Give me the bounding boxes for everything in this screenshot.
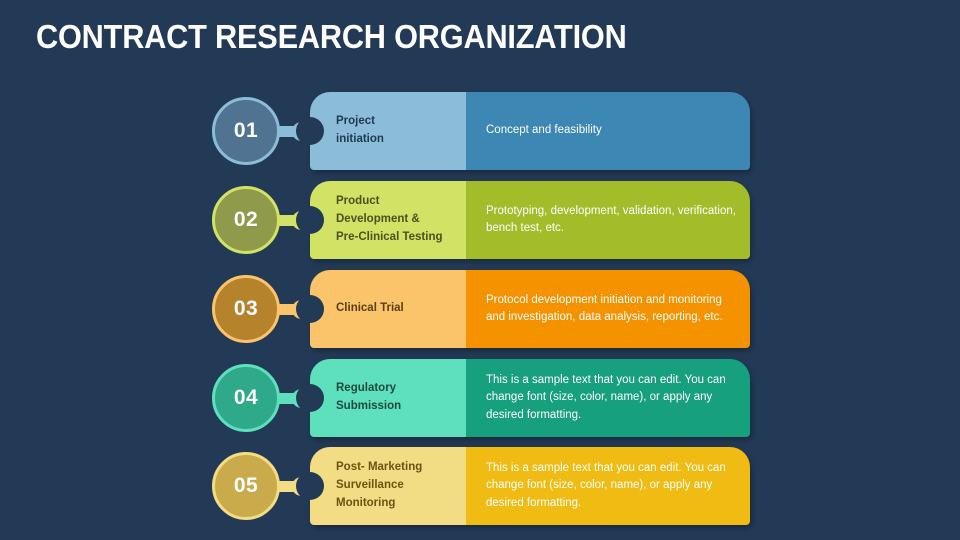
step-bar: ProjectinitiationConcept and feasibility xyxy=(310,92,750,170)
step-bar: RegulatorySubmissionThis is a sample tex… xyxy=(310,359,750,437)
connector-notch xyxy=(296,117,324,145)
step-number-badge[interactable]: 02 xyxy=(212,186,280,254)
step-label-text: Projectinitiation xyxy=(336,113,384,149)
step-number-text: 05 xyxy=(234,474,258,498)
step-description-text: Prototyping, development, validation, ve… xyxy=(486,203,736,238)
step-label-text: RegulatorySubmission xyxy=(336,380,401,416)
process-step-row[interactable]: Post- MarketingSurveillanceMonitoringThi… xyxy=(0,447,960,525)
step-number-badge[interactable]: 05 xyxy=(212,452,280,520)
connector-notch xyxy=(296,206,324,234)
step-bar: Post- MarketingSurveillanceMonitoringThi… xyxy=(310,447,750,525)
step-bar: Clinical TrialProtocol development initi… xyxy=(310,270,750,348)
step-description-text: This is a sample text that you can edit.… xyxy=(486,460,736,512)
connector-notch xyxy=(296,472,324,500)
step-label-panel[interactable]: Projectinitiation xyxy=(310,92,466,170)
step-label-panel[interactable]: RegulatorySubmission xyxy=(310,359,466,437)
step-number-text: 02 xyxy=(234,208,258,232)
step-number-text: 01 xyxy=(234,119,258,143)
step-number-text: 04 xyxy=(234,386,258,410)
step-label-panel[interactable]: Post- MarketingSurveillanceMonitoring xyxy=(310,447,466,525)
step-description-panel[interactable]: Prototyping, development, validation, ve… xyxy=(466,181,750,259)
step-label-panel[interactable]: ProductDevelopment &Pre-Clinical Testing xyxy=(310,181,466,259)
step-description-panel[interactable]: Protocol development initiation and moni… xyxy=(466,270,750,348)
step-description-panel[interactable]: This is a sample text that you can edit.… xyxy=(466,447,750,525)
step-label-text: Post- MarketingSurveillanceMonitoring xyxy=(336,459,422,512)
process-step-row[interactable]: Clinical TrialProtocol development initi… xyxy=(0,270,960,348)
step-label-text: Clinical Trial xyxy=(336,300,404,318)
step-bar: ProductDevelopment &Pre-Clinical Testing… xyxy=(310,181,750,259)
step-description-panel[interactable]: This is a sample text that you can edit.… xyxy=(466,359,750,437)
step-number-badge[interactable]: 03 xyxy=(212,275,280,343)
process-step-row[interactable]: ProductDevelopment &Pre-Clinical Testing… xyxy=(0,181,960,259)
step-description-text: This is a sample text that you can edit.… xyxy=(486,372,736,424)
step-description-text: Protocol development initiation and moni… xyxy=(486,292,736,327)
process-step-row[interactable]: RegulatorySubmissionThis is a sample tex… xyxy=(0,359,960,437)
step-number-text: 03 xyxy=(234,297,258,321)
step-description-panel[interactable]: Concept and feasibility xyxy=(466,92,750,170)
step-label-text: ProductDevelopment &Pre-Clinical Testing xyxy=(336,193,443,246)
process-step-row[interactable]: ProjectinitiationConcept and feasibility… xyxy=(0,92,960,170)
step-description-text: Concept and feasibility xyxy=(486,122,602,139)
step-number-badge[interactable]: 01 xyxy=(212,97,280,165)
slide-canvas: CONTRACT RESEARCH ORGANIZATION Projectin… xyxy=(0,0,960,540)
step-number-badge[interactable]: 04 xyxy=(212,364,280,432)
process-step-list: ProjectinitiationConcept and feasibility… xyxy=(0,0,960,540)
connector-notch xyxy=(296,295,324,323)
step-label-panel[interactable]: Clinical Trial xyxy=(310,270,466,348)
connector-notch xyxy=(296,384,324,412)
